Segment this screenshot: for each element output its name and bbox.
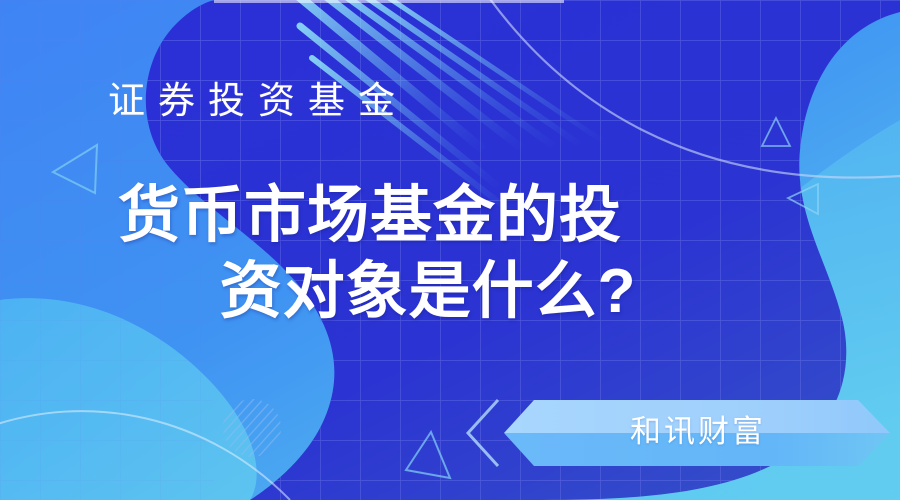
text-layer: 证券投资基金 货币市场基金的投 资对象是什么? xyxy=(0,0,900,500)
banner-chevron-outline xyxy=(468,400,498,466)
brand-name-label: 和讯财富 xyxy=(568,410,828,454)
poster-subtitle: 证券投资基金 xyxy=(108,78,408,124)
headline-line-1: 货币市场基金的投 xyxy=(118,178,738,254)
brand-banner: 和讯财富 xyxy=(460,392,900,474)
poster-headline: 货币市场基金的投 资对象是什么? xyxy=(118,178,738,330)
poster-canvas: 证券投资基金 货币市场基金的投 资对象是什么? xyxy=(0,0,900,500)
headline-line-2: 资对象是什么? xyxy=(118,254,738,330)
